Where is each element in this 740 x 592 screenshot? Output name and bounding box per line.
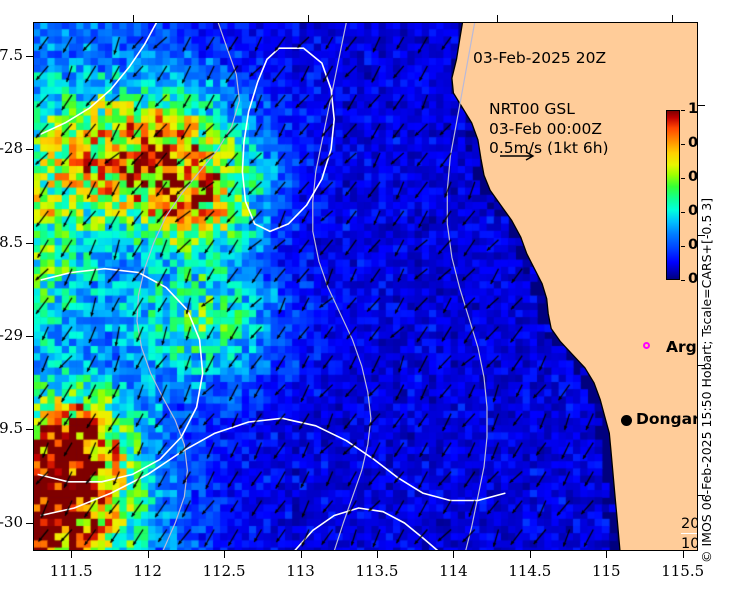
credit-text: © IMOS 06-Feb-2025 15:50 Hobart; Tscale=…: [699, 198, 714, 563]
figure-canvas: 03-Feb-2025 20Z NRT00 GSL 03-Feb 00:00Z …: [0, 0, 740, 592]
y-axis-tick-mark: [26, 523, 33, 524]
dongara-label: Dongara: [636, 410, 698, 428]
colorbar-tick-mark: [681, 144, 685, 145]
colorbar-tick-label: 0.4: [688, 203, 698, 219]
map-plot-area[interactable]: 03-Feb-2025 20Z NRT00 GSL 03-Feb 00:00Z …: [33, 22, 698, 551]
right-axis-tick-mark: [698, 495, 705, 496]
velocity-scale-arrow-icon: [499, 150, 539, 162]
y-axis-tick-label: -30: [0, 513, 23, 531]
y-axis-tick-mark: [26, 149, 33, 150]
dongara-marker-icon: [621, 415, 632, 426]
x-axis-tick-label: 114.5: [495, 562, 565, 580]
right-axis-tick-mark: [698, 105, 705, 106]
x-axis-tick-mark: [683, 551, 684, 558]
x-axis-tick-label: 114: [418, 562, 488, 580]
top-axis-tick-mark: [497, 15, 498, 22]
x-axis-tick-mark: [301, 551, 302, 558]
y-axis-tick-mark: [26, 56, 33, 57]
y-axis-tick-mark: [26, 243, 33, 244]
y-axis-tick-label: -28: [0, 139, 23, 157]
colorbar-tick-mark: [681, 110, 685, 111]
colorbar-tick-label: 1: [688, 101, 698, 117]
colorbar-tick-mark: [681, 212, 685, 213]
x-axis-tick-label: 112: [113, 562, 183, 580]
y-axis-tick-label: -28.5: [0, 233, 23, 251]
right-axis-tick-mark: [698, 365, 705, 366]
x-axis-tick-mark: [224, 551, 225, 558]
x-axis-tick-label: 112.5: [189, 562, 259, 580]
x-axis-tick-mark: [606, 551, 607, 558]
source-line-1: NRT00 GSL: [489, 100, 609, 120]
source-line-2: 03-Feb 00:00Z: [489, 120, 609, 140]
argo-marker-icon: [643, 342, 650, 349]
colorbar-tick-label: 0: [688, 271, 698, 287]
x-axis-tick-mark: [148, 551, 149, 558]
depth-1000-label: 1000m: [681, 534, 698, 551]
depth-200-label: 200m: [681, 514, 698, 534]
top-axis-tick-mark: [308, 15, 309, 22]
y-axis-tick-label: -29: [0, 326, 23, 344]
x-axis-tick-mark: [71, 551, 72, 558]
colorbar-gradient: [666, 110, 680, 280]
colorbar-tick-label: 0.6: [688, 169, 698, 185]
colorbar-tick-label: 0.8: [688, 135, 698, 151]
x-axis-tick-mark: [453, 551, 454, 558]
x-axis-tick-mark: [530, 551, 531, 558]
colorbar-tick-mark: [681, 246, 685, 247]
top-axis-tick-mark: [672, 15, 673, 22]
x-axis-tick-label: 115.5: [648, 562, 718, 580]
depth-200-line-sample: [681, 533, 698, 534]
date-label: 03-Feb-2025 20Z: [473, 49, 606, 67]
y-axis-tick-label: -27.5: [0, 46, 23, 64]
depth-contour-legend: 200m 1000m: [681, 514, 698, 551]
y-axis-tick-mark: [26, 336, 33, 337]
x-axis-tick-label: 115: [571, 562, 641, 580]
x-axis-tick-label: 113: [266, 562, 336, 580]
x-axis-tick-mark: [377, 551, 378, 558]
colorbar-tick-mark: [681, 178, 685, 179]
top-axis-tick-mark: [133, 15, 134, 22]
y-axis-tick-mark: [26, 429, 33, 430]
x-axis-tick-label: 111.5: [36, 562, 106, 580]
right-axis-tick-mark: [698, 235, 705, 236]
colorbar-tick-label: 0.2: [688, 237, 698, 253]
argo-legend-label: Argo: [666, 338, 698, 356]
y-axis-tick-label: -29.5: [0, 419, 23, 437]
x-axis-tick-label: 113.5: [342, 562, 412, 580]
colorbar-tick-mark: [681, 280, 685, 281]
